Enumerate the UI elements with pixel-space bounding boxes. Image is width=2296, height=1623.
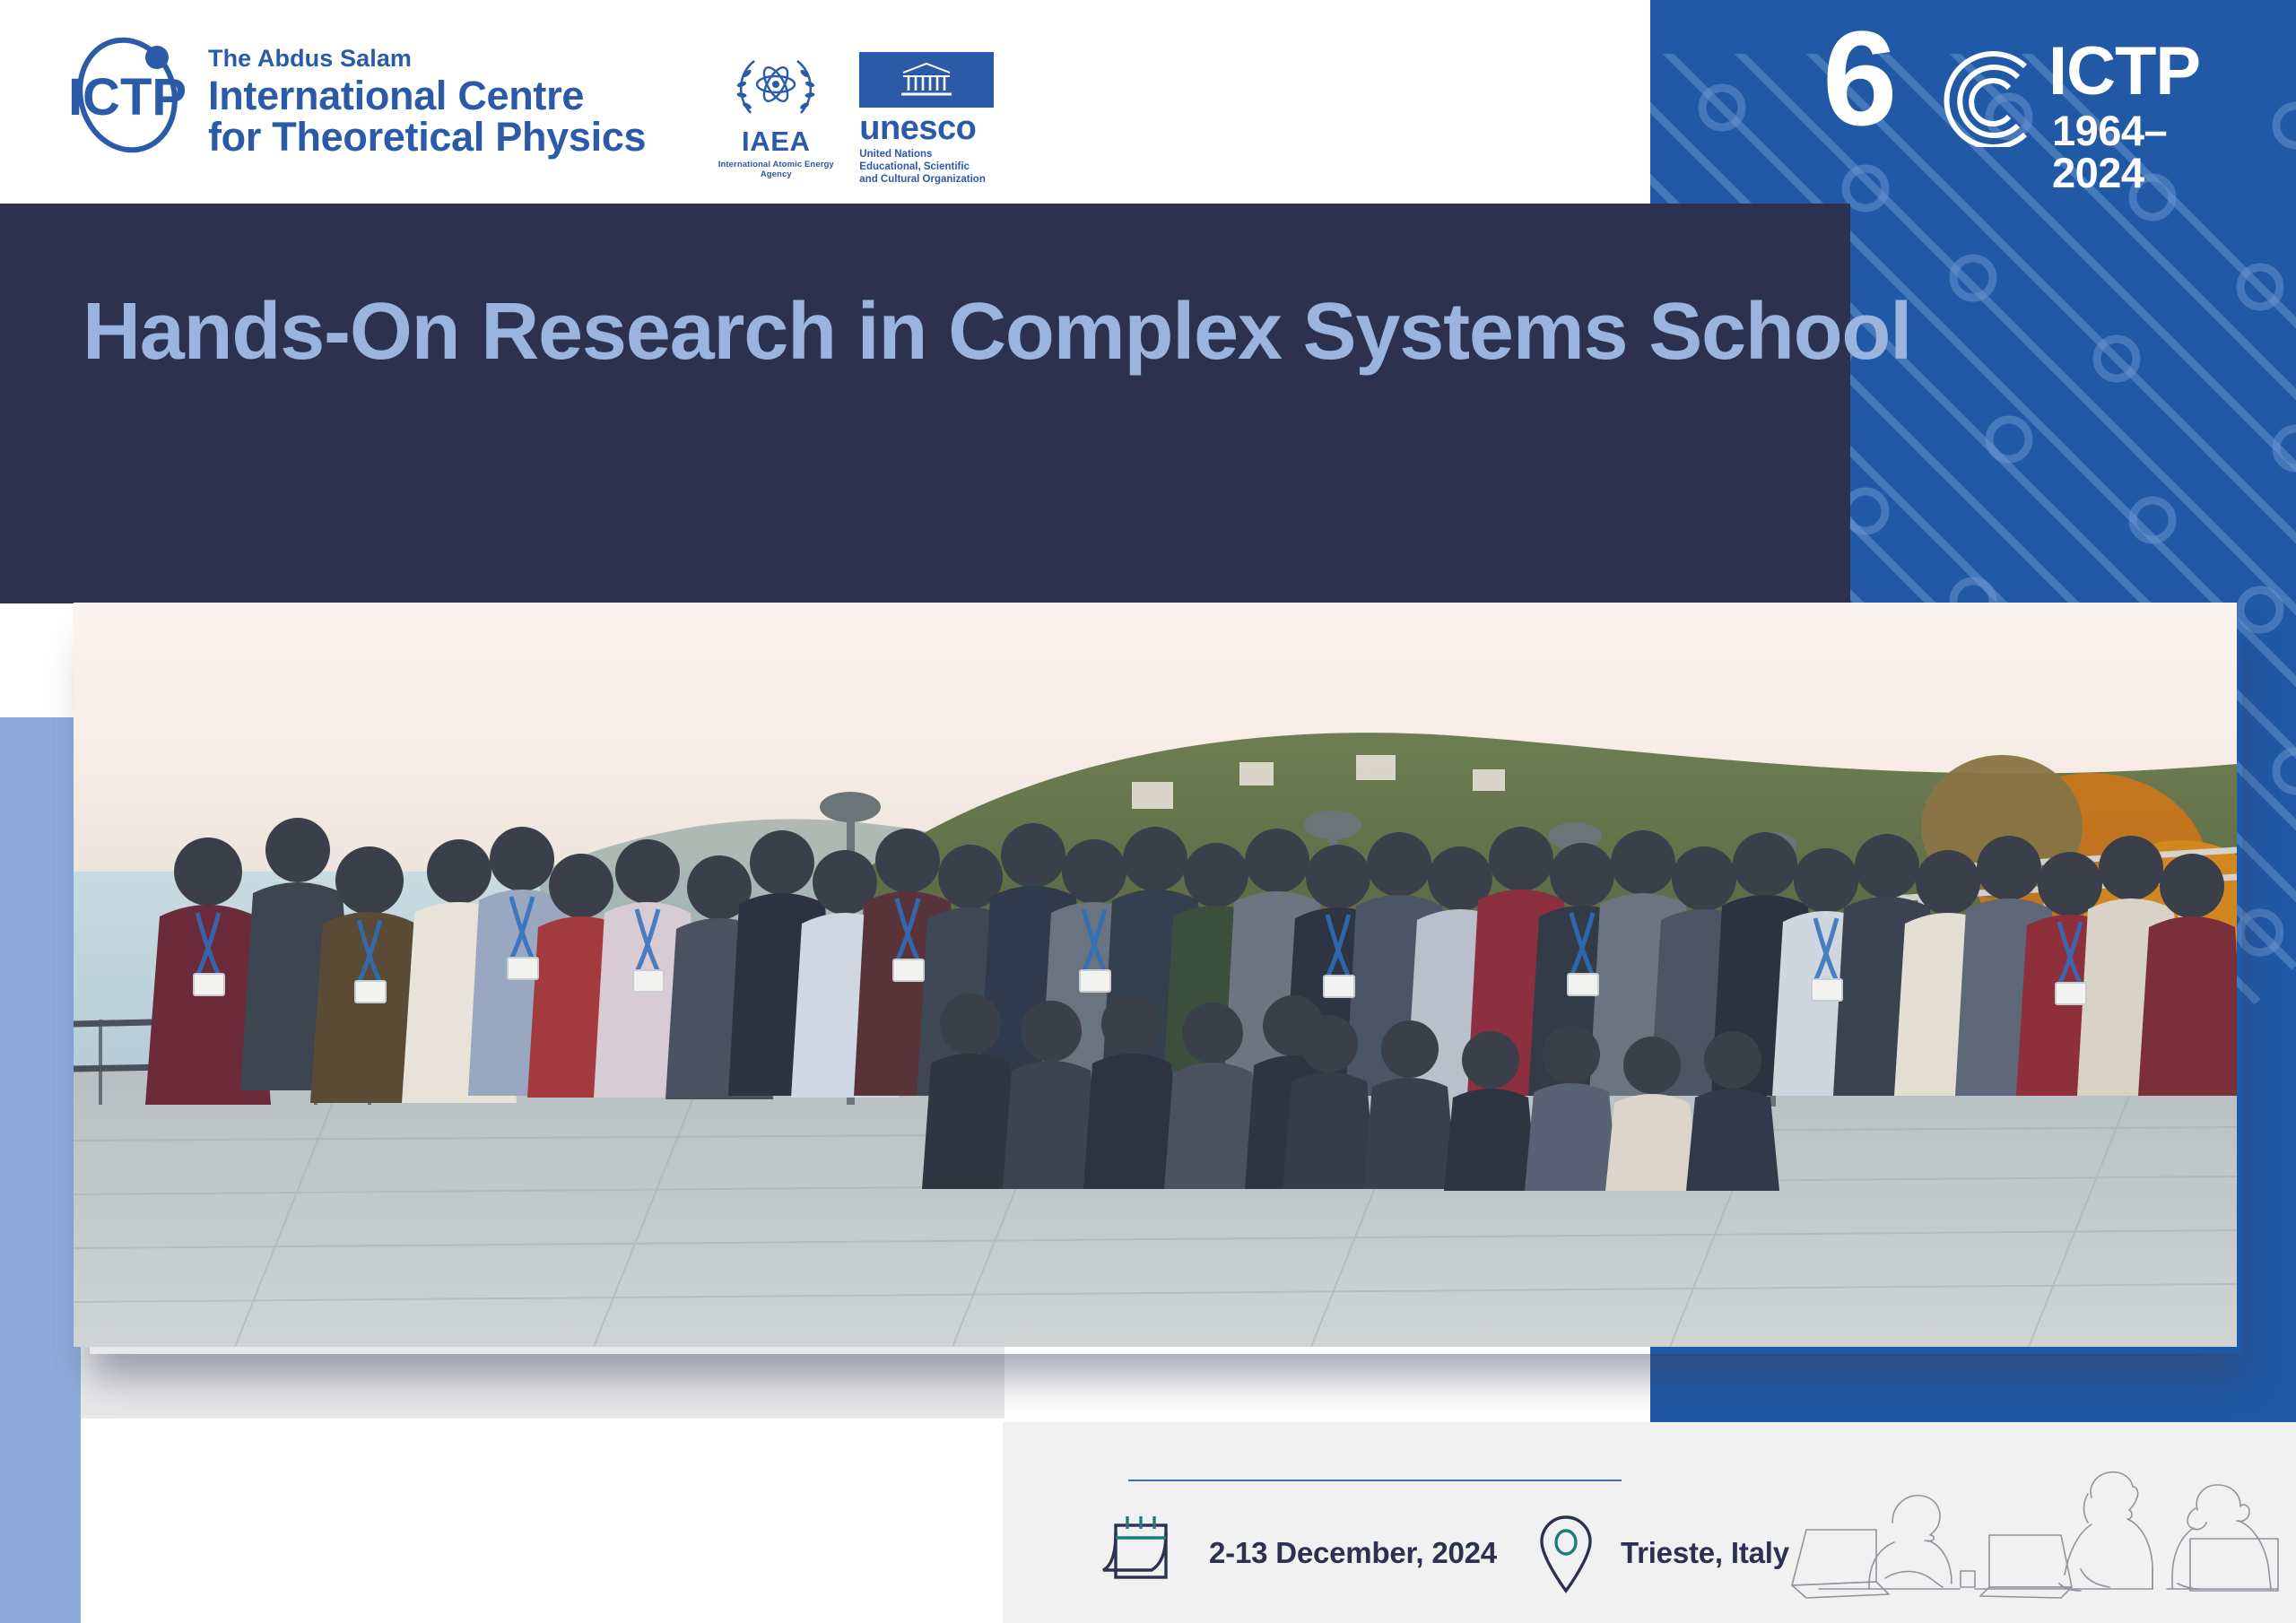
ictp-wordmark: The Abdus Salam International Centre for… — [208, 47, 646, 157]
unesco-subtitle-line1: United Nations — [859, 148, 994, 161]
group-photo-illustration — [74, 603, 2237, 1347]
title-block: Hands-On Research in Complex Systems Sch… — [0, 204, 1850, 603]
unesco-subtitle-line3: and Cultural Organization — [859, 173, 994, 186]
page-title: Hands-On Research in Complex Systems Sch… — [83, 286, 1911, 378]
header-bar: ICTP The Abdus Salam International Centr… — [0, 0, 1650, 203]
svg-text:ICTP: ICTP — [68, 68, 187, 126]
unesco-logo: unesco United Nations Educational, Scien… — [859, 52, 994, 186]
iaea-atom-wreath-icon — [727, 54, 824, 124]
ictp-line1: The Abdus Salam — [208, 47, 646, 71]
bottom-white-fill — [81, 1419, 1004, 1623]
info-row: 2-13 December, 2024 Trieste, Italy — [1101, 1512, 1789, 1594]
info-divider-rule — [1128, 1480, 1622, 1481]
anniversary-years: 1964–2024 — [2052, 109, 2244, 194]
iaea-logo: IAEA International Atomic Energy Agency — [717, 54, 834, 179]
photo-shadow-strip — [81, 1347, 1004, 1419]
anniversary-logo: 6 ICTP 1964–2024 — [1822, 23, 2244, 158]
ictp-line3: for Theoretical Physics — [208, 117, 646, 157]
unesco-temple-icon — [900, 60, 953, 100]
event-location: Trieste, Italy — [1621, 1536, 1789, 1570]
group-photo — [74, 603, 2237, 1347]
anniversary-brand: ICTP — [2048, 38, 2200, 106]
ictp-line2: International Centre — [208, 75, 646, 116]
unesco-flag — [859, 52, 994, 108]
unesco-wordmark: unesco — [859, 111, 994, 145]
anniversary-number: 6 — [1822, 11, 1892, 145]
map-pin-icon — [1536, 1512, 1596, 1594]
event-date: 2-13 December, 2024 — [1209, 1536, 1497, 1570]
unesco-subtitle-line2: Educational, Scientific — [859, 161, 994, 173]
iaea-name: IAEA — [717, 126, 834, 158]
iaea-subtitle: International Atomic Energy Agency — [717, 160, 834, 179]
ictp-atom-logo-icon: ICTP — [56, 32, 199, 158]
logo-row: ICTP The Abdus Salam International Centr… — [56, 32, 994, 186]
sixty-arcs-icon — [1919, 48, 2040, 147]
unesco-subtitle: United Nations Educational, Scientific a… — [859, 148, 994, 186]
calendar-icon — [1101, 1515, 1171, 1592]
left-accent-band — [0, 717, 81, 1623]
people-at-laptops-line-art-icon — [1776, 1435, 2296, 1623]
